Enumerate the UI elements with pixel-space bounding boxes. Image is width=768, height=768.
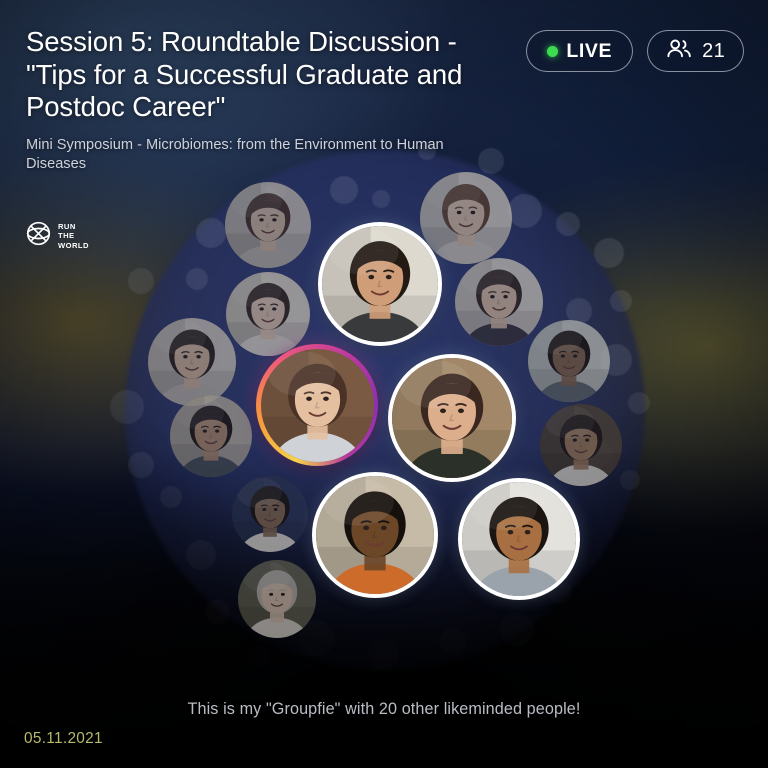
participant-avatar[interactable] xyxy=(455,258,543,346)
page-title: Session 5: Roundtable Discussion - "Tips… xyxy=(26,26,496,124)
participant-counter[interactable]: 21 xyxy=(647,30,744,72)
title-block: Session 5: Roundtable Discussion - "Tips… xyxy=(26,26,496,174)
session-subtitle: Mini Symposium - Microbiomes: from the E… xyxy=(26,136,496,174)
run-the-world-wordmark: RUN THE WORLD xyxy=(58,222,89,250)
participant-avatar[interactable] xyxy=(232,476,308,552)
participant-avatar[interactable] xyxy=(170,395,252,477)
people-icon xyxy=(666,39,692,63)
participant-avatar[interactable] xyxy=(256,344,378,466)
run-the-world-logo[interactable]: RUN THE WORLD xyxy=(26,221,89,251)
participant-avatar[interactable] xyxy=(458,478,580,600)
avatar-image xyxy=(261,349,374,462)
participant-avatar[interactable] xyxy=(540,404,622,486)
logo-line-2: THE xyxy=(58,231,89,240)
participant-avatar[interactable] xyxy=(148,318,236,406)
participant-avatar[interactable] xyxy=(238,560,316,638)
participant-avatar[interactable] xyxy=(528,320,610,402)
participant-count: 21 xyxy=(702,40,725,63)
date-stamp: 05.11.2021 xyxy=(24,730,103,748)
participant-avatar[interactable] xyxy=(420,172,512,264)
live-dot-icon xyxy=(547,46,558,57)
header-status-group: LIVE 21 xyxy=(526,26,744,72)
logo-line-1: RUN xyxy=(58,222,89,231)
participant-avatar[interactable] xyxy=(312,472,438,598)
groupfie-caption: This is my "Groupfie" with 20 other like… xyxy=(0,700,768,719)
participant-avatar[interactable] xyxy=(225,182,311,268)
live-badge: LIVE xyxy=(526,30,633,72)
groupfie-stage: Session 5: Roundtable Discussion - "Tips… xyxy=(0,0,768,768)
session-header: Session 5: Roundtable Discussion - "Tips… xyxy=(0,0,768,174)
participant-avatar[interactable] xyxy=(388,354,516,482)
run-the-world-globe-icon xyxy=(26,221,51,251)
participant-avatar[interactable] xyxy=(226,272,310,356)
logo-line-3: WORLD xyxy=(58,241,89,250)
live-badge-label: LIVE xyxy=(566,40,612,63)
participant-avatar[interactable] xyxy=(318,222,442,346)
